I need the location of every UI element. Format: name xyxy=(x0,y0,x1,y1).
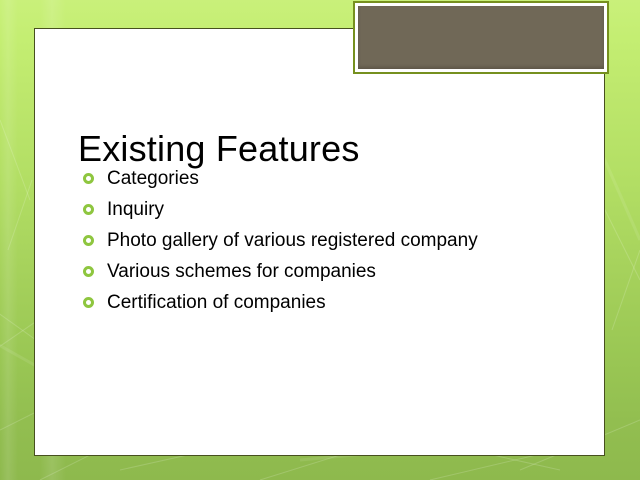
presentation-slide: Existing Features Categories Inquiry Pho… xyxy=(0,0,640,480)
list-item: Various schemes for companies xyxy=(83,260,593,283)
list-item: Photo gallery of various registered comp… xyxy=(83,229,593,252)
ring-bullet-icon xyxy=(83,204,94,215)
list-item-label: Photo gallery of various registered comp… xyxy=(107,230,478,251)
list-item-label: Certification of companies xyxy=(107,292,326,313)
decorative-header-fill xyxy=(358,6,604,69)
ring-bullet-icon xyxy=(83,173,94,184)
ring-bullet-icon xyxy=(83,266,94,277)
list-item: Certification of companies xyxy=(83,291,593,314)
page-title: Existing Features xyxy=(78,127,360,171)
list-item: Inquiry xyxy=(83,198,593,221)
decorative-header-block xyxy=(353,1,609,74)
list-item-label: Categories xyxy=(107,168,199,189)
ring-bullet-icon xyxy=(83,297,94,308)
feature-bullet-list: Categories Inquiry Photo gallery of vari… xyxy=(83,167,593,322)
list-item-label: Various schemes for companies xyxy=(107,261,376,282)
list-item: Categories xyxy=(83,167,593,190)
list-item-label: Inquiry xyxy=(107,199,164,220)
slide-content-panel: Existing Features Categories Inquiry Pho… xyxy=(34,28,605,456)
ring-bullet-icon xyxy=(83,235,94,246)
